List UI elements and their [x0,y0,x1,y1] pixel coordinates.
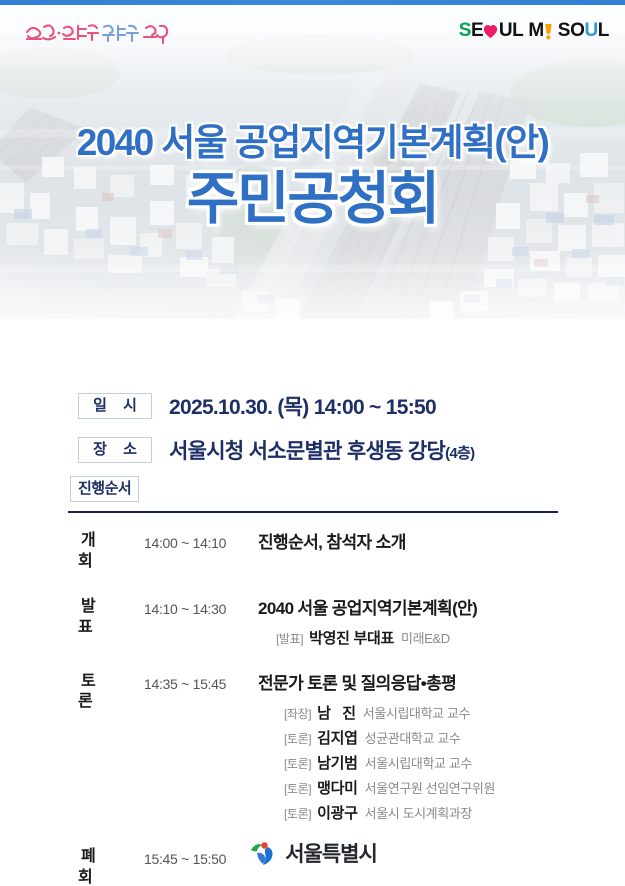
person-role-tag: [토론] [284,780,311,797]
smy-letter-m: M [528,21,543,40]
heart-icon [483,24,498,39]
program-row-time: 14:10 ~ 14:30 [144,597,258,619]
seoul-my-soul-wordmark: SEUL M SOUL [459,21,609,40]
page-subtitle: 주민공청회 [0,170,625,230]
program-heading: 진행순서 [70,476,139,502]
smy-letters-so: SO [558,21,585,40]
program-row-label: 발 표 [78,597,144,639]
program-row-label: 개 회 [78,531,144,573]
person-role-tag: [발표] [276,630,303,647]
person-name: 남기범 [317,752,358,773]
person-affiliation: 서울시 도시계획과장 [365,803,472,822]
exclamation-icon [544,23,553,40]
smy-letter-l: L [598,21,609,40]
event-info-list: 일 시 2025.10.30. (목) 14:00 ~ 15:50 장 소 서울… [0,384,625,472]
hero-bottom-fill [0,319,625,365]
poster-page: SEUL M SOUL 2040 서울 공업지역기본계획(안) 주민공청회 일 … [0,0,625,886]
person-role-tag: [토론] [284,755,311,772]
smy-letter-e: E [471,21,483,40]
program-heading-row: 진행순서 [0,476,625,502]
person-name: 남 진 [317,702,356,723]
program-row-detail: 2040 서울 공업지역기본계획(안) [발표] 박영진 부대표 미래E&D [258,597,625,648]
program-row-discussion: 토 론 14:35 ~ 15:45 전문가 토론 및 질의응답•총평 [좌장] … [0,648,625,824]
list-item: [토론] 이광구 서울시 도시계획과장 [258,802,625,823]
person-role-tag: [좌장] [284,705,311,722]
program-row-detail: 진행순서, 참석자 소개 [258,531,625,555]
seoul-city-emblem-icon [248,838,278,868]
program-row-description: 2040 서울 공업지역기본계획(안) [258,597,625,621]
footer-branding: 서울특별시 [0,838,625,868]
program-row-time: 14:00 ~ 14:10 [144,531,258,553]
program-rows: 개 회 14:00 ~ 14:10 진행순서, 참석자 소개 발 표 14:10… [0,513,625,886]
seoul-donghaeng-maeryeok-logo [22,18,172,48]
person-affiliation: 성균관대학교 교수 [365,728,461,747]
program-row-presentation: 발 표 14:10 ~ 14:30 2040 서울 공업지역기본계획(안) [발… [0,573,625,648]
panelist-list: [좌장] 남 진 서울시립대학교 교수 [토론] 김지엽 성균관대학교 교수 [… [258,702,625,823]
person-affiliation: 서울시립대학교 교수 [363,703,470,722]
info-label-datetime: 일 시 [78,393,152,419]
list-item: [토론] 김지엽 성균관대학교 교수 [258,727,625,748]
page-title: 2040 서울 공업지역기본계획(안) [0,123,625,164]
organization-name: 서울특별시 [285,838,377,868]
program-row-detail: 전문가 토론 및 질의응답•총평 [좌장] 남 진 서울시립대학교 교수 [토론… [258,672,625,824]
person-name: 김지엽 [317,727,358,748]
person-affiliation: 미래E&D [401,628,450,647]
person-affiliation: 서울시립대학교 교수 [365,753,472,772]
program-row-time: 14:35 ~ 15:45 [144,672,258,694]
program-row-opening: 개 회 14:00 ~ 14:10 진행순서, 참석자 소개 [0,513,625,573]
info-value-datetime: 2025.10.30. (목) 14:00 ~ 15:50 [169,391,436,421]
program-section: 진행순서 개 회 14:00 ~ 14:10 진행순서, 참석자 소개 발 표 … [0,476,625,886]
smy-letter-s-green: S [459,21,471,40]
presenter-list: [발표] 박영진 부대표 미래E&D [258,627,625,648]
person-role-tag: [토론] [284,805,311,822]
list-item: [토론] 남기범 서울시립대학교 교수 [258,752,625,773]
person-name: 맹다미 [317,777,358,798]
seoul-my-soul-logo: SEUL M SOUL [459,19,609,41]
list-item: [토론] 맹다미 서울연구원 선임연구위원 [258,777,625,798]
person-name: 이광구 [317,802,358,823]
smy-letter-u-blue: U [584,21,597,40]
list-item: [좌장] 남 진 서울시립대학교 교수 [258,702,625,723]
program-row-description: 진행순서, 참석자 소개 [258,531,625,555]
info-value-venue: 서울시청 서소문별관 후생동 강당(4층) [169,435,474,465]
poster-title-block: 2040 서울 공업지역기본계획(안) 주민공청회 [0,123,625,230]
info-row-venue: 장 소 서울시청 서소문별관 후생동 강당(4층) [0,428,625,472]
person-name: 박영진 부대표 [309,627,394,648]
smy-letters-ul: UL [499,21,524,40]
info-value-venue-text: 서울시청 서소문별관 후생동 강당 [169,440,445,463]
info-label-venue: 장 소 [78,437,152,463]
info-row-datetime: 일 시 2025.10.30. (목) 14:00 ~ 15:50 [0,384,625,428]
person-role-tag: [토론] [284,730,311,747]
program-row-label: 토 론 [78,672,144,714]
info-value-venue-floor: (4층) [445,445,474,462]
list-item: [발표] 박영진 부대표 미래E&D [258,627,625,648]
person-affiliation: 서울연구원 선임연구위원 [365,778,495,797]
program-row-description: 전문가 토론 및 질의응답•총평 [258,672,625,696]
